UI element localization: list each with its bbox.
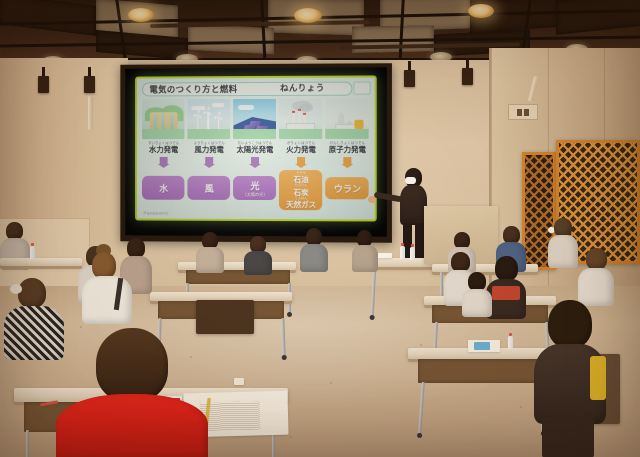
slide-page-marker: [353, 82, 370, 95]
slide-title-bar: ねんりょう 電気のつくり方と燃料: [142, 82, 351, 97]
ceiling-light: [468, 4, 494, 18]
method-label-nuclear: げんしりょくはつでん 原子力発電: [326, 141, 369, 156]
audience-member-bun: [84, 250, 130, 322]
method-label-solar: たいようこうはつでん 太陽光発電: [234, 141, 277, 156]
slide-illustration-row: [142, 99, 369, 139]
wind-turbine-icon: [188, 99, 231, 139]
track-light-fixture: [404, 70, 415, 87]
ceiling-light: [128, 8, 154, 22]
audience-member: [8, 278, 60, 358]
fuel-box-fossil: せきゆ 石油 せきたん 石炭 てんねん 天然ガス: [279, 170, 322, 210]
table-skirt: [418, 359, 550, 383]
water-bottle: [410, 247, 415, 260]
audience-member: [196, 232, 224, 272]
presenter-face-mask: [405, 177, 416, 184]
fuel-box-wind: 風: [188, 176, 231, 200]
arrow-down-icon: [234, 157, 277, 168]
student-table-far-left: [0, 258, 82, 266]
ceiling-light: [294, 8, 322, 23]
panasonic-watermark: Panasonic: [143, 210, 169, 215]
audience-member: [486, 256, 526, 318]
water-bottle: [400, 246, 405, 259]
audience-member: [352, 230, 378, 272]
nuclear-plant-icon: [326, 99, 369, 139]
track-light-fixture: [84, 76, 95, 93]
slide-arrow-row: [142, 157, 369, 168]
wall-tube-fixture: [88, 96, 93, 130]
audience-member: [578, 248, 614, 306]
slide-fuel-row: 水 風 光 （太陽の光） せきゆ 石油: [142, 170, 369, 215]
audience-member-child: [462, 272, 492, 316]
projection-screen-surface: ねんりょう 電気のつくり方と燃料: [125, 67, 387, 236]
audience-member: [548, 218, 578, 268]
presentation-slide: ねんりょう 電気のつくり方と燃料: [136, 76, 377, 222]
arrow-down-icon: [279, 157, 322, 168]
audience-member-foreground-red: [56, 328, 208, 457]
presenter-hand: [368, 196, 376, 203]
method-label-hydro: すいりょくはつでん 水力発電: [142, 141, 184, 156]
fuel-box-light: 光 （太陽の光）: [234, 176, 277, 200]
dam-reservoir-icon: [142, 100, 184, 140]
track-light-fixture: [462, 68, 473, 85]
audience-member-foreground-right: [534, 300, 606, 457]
presenter-torso: [400, 185, 427, 225]
solar-panel-icon: [234, 99, 277, 139]
arrow-down-icon: [326, 157, 369, 168]
wall-control-panel[interactable]: [508, 104, 538, 120]
water-bottle: [508, 336, 513, 349]
slide-title-text: 電気のつくり方と燃料: [149, 83, 237, 95]
track-light-fixture: [38, 76, 49, 93]
method-label-wind: ふうりょくはつでん 風力発電: [188, 141, 231, 156]
projection-screen-frame: ねんりょう 電気のつくり方と燃料: [120, 63, 392, 243]
eraser: [234, 378, 244, 385]
slide-title-ruby: ねんりょう: [280, 82, 325, 94]
arrow-down-icon: [142, 157, 184, 168]
audience-member: [300, 228, 328, 272]
table-leg: [26, 430, 29, 457]
arrow-down-icon: [188, 157, 231, 168]
method-label-thermal: かりょくはつでん 火力発電: [279, 141, 322, 156]
fuel-box-water: 水: [142, 176, 184, 200]
thermal-plant-icon: [279, 99, 322, 139]
booklet-cover: [474, 342, 490, 350]
audience-member: [244, 236, 272, 274]
classroom-scene: ねんりょう 電気のつくり方と燃料: [0, 0, 640, 457]
slide-label-row: すいりょくはつでん 水力発電 ふうりょくはつでん 風力発電 たいようこうはつでん…: [142, 141, 369, 156]
fuel-box-uranium: ウラン: [326, 177, 369, 199]
water-bottle: [30, 246, 35, 259]
